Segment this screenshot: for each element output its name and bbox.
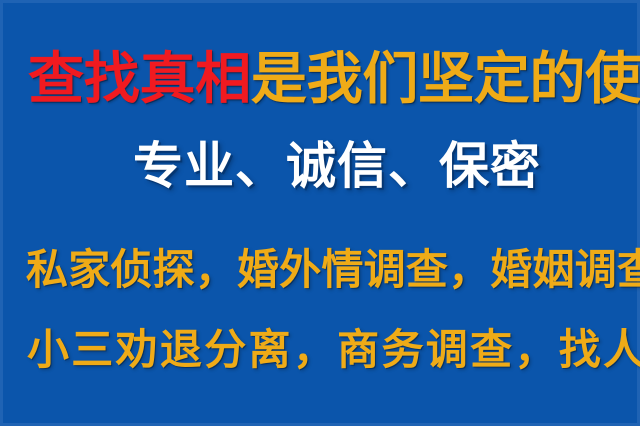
services-line-1: 私家侦探，婚外情调查，婚姻调查， xyxy=(26,249,640,291)
advertisement-banner: 查找真相是我们坚定的使命 专业、诚信、保密 私家侦探，婚外情调查，婚姻调查， 小… xyxy=(0,0,640,426)
headline-emphasis-text: 查找真相 xyxy=(28,47,251,112)
services-line-2: 小三劝退分离，商务调查，找人寻人 xyxy=(27,329,640,371)
core-values-line: 专业、诚信、保密 xyxy=(133,141,541,191)
headline-slogan: 查找真相是我们坚定的使命 xyxy=(28,52,640,108)
headline-rest-text: 是我们坚定的使命 xyxy=(251,47,640,112)
